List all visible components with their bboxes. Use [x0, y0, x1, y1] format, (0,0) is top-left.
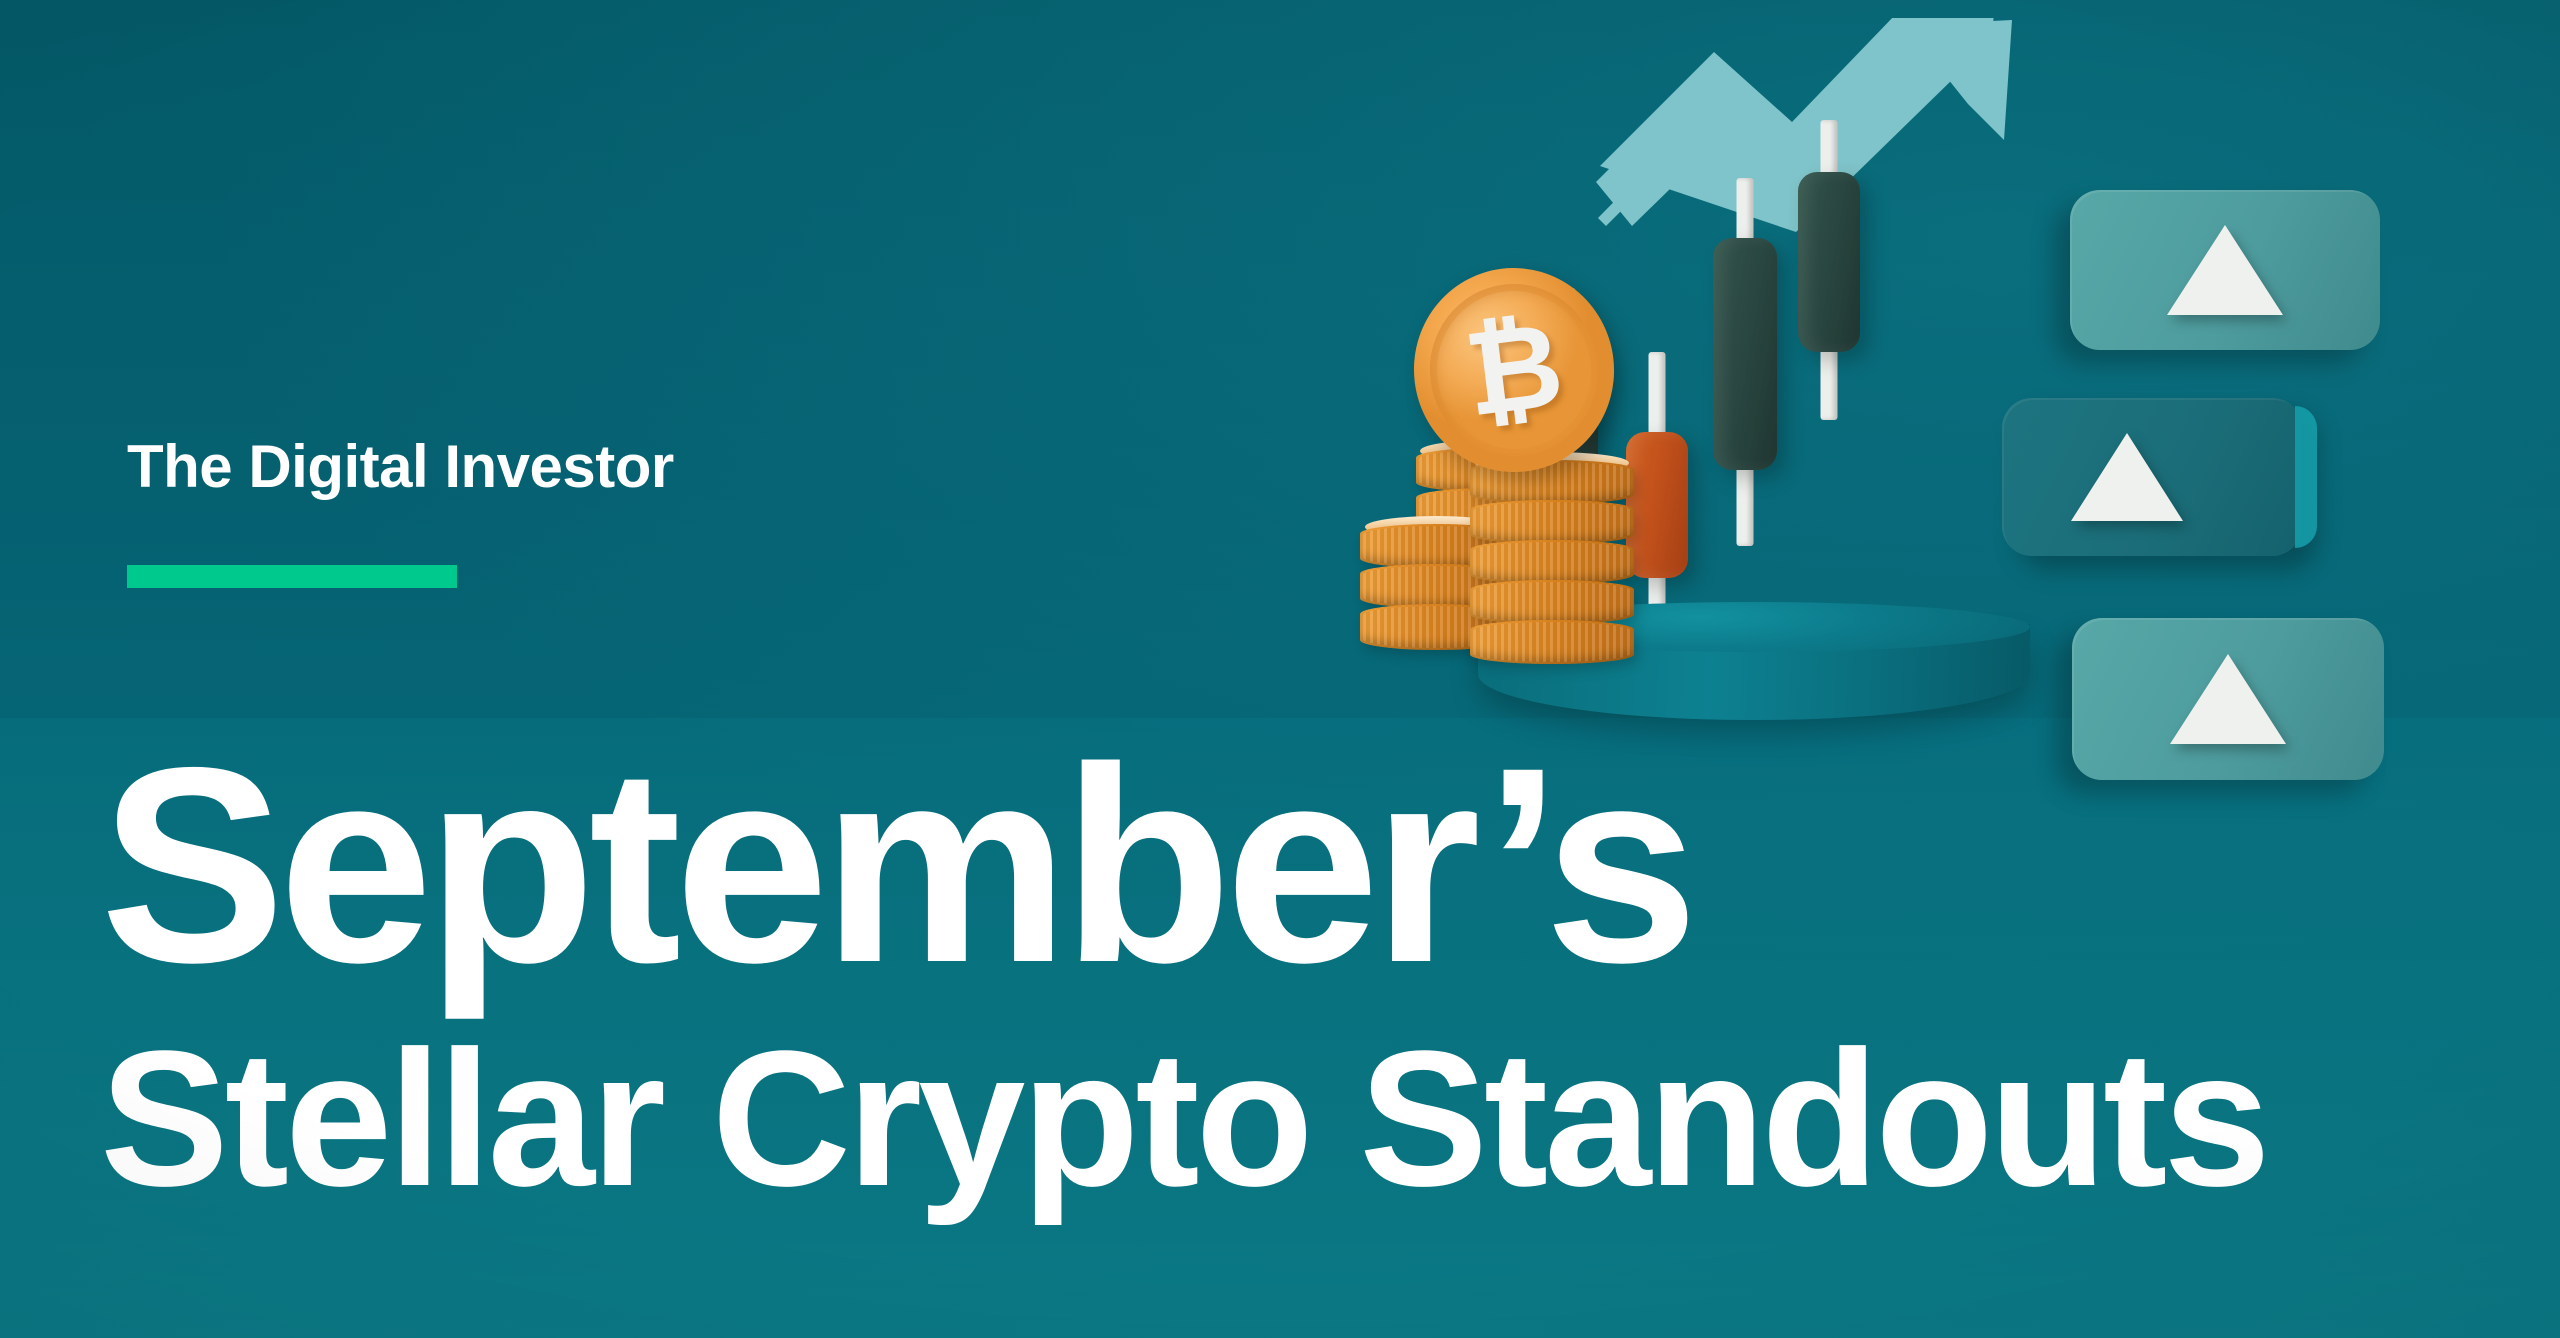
badge-side-edge [2295, 406, 2317, 548]
banner-text-block: The Digital Investor September’s Stellar… [0, 0, 2100, 1338]
triangle-up-icon [2167, 225, 2283, 315]
badge-up-1 [2070, 190, 2380, 350]
accent-bar [127, 565, 457, 588]
brand-kicker: The Digital Investor [127, 437, 674, 497]
triangle-up-icon [2170, 654, 2286, 744]
banner-canvas: ₿ The Digital Investor September’s Stell… [0, 0, 2560, 1338]
headline-line-2: Stellar Crypto Standouts [100, 1022, 2267, 1215]
headline-line-1: September’s [100, 726, 1692, 1004]
badge-up-3 [2072, 618, 2384, 780]
